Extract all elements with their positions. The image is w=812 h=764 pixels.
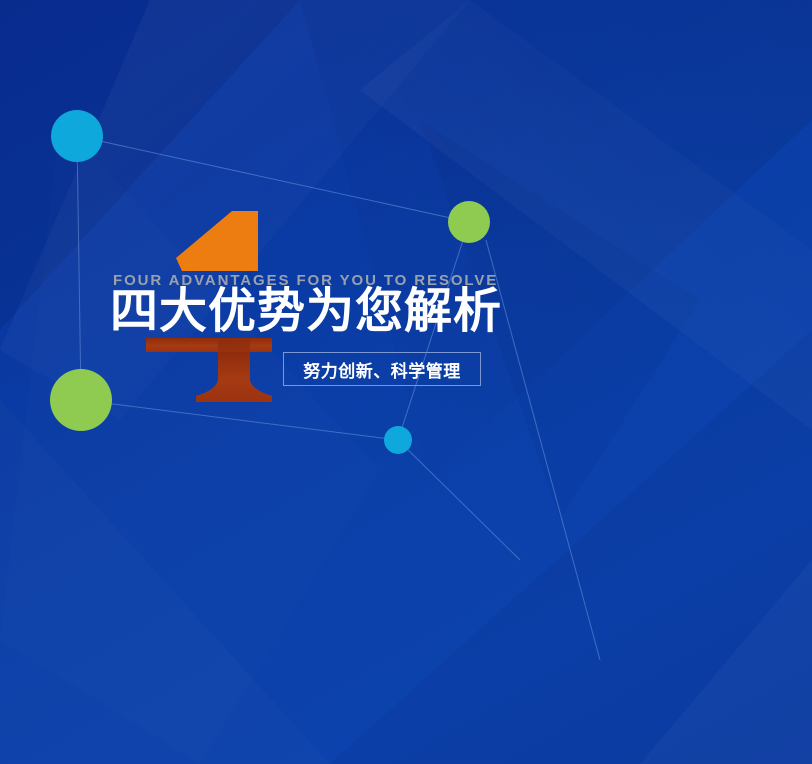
banner-cta-label: 努力创新、科学管理 [303,357,461,382]
banner-headline: 四大优势为您解析 [110,288,502,336]
node-green-bottom-left [50,369,112,431]
node-cyan-top-left [51,110,103,162]
banner-cta-button[interactable]: 努力创新、科学管理 [283,352,481,386]
node-green-right [448,201,490,243]
node-cyan-bottom [384,426,412,454]
banner-stage: FOUR ADVANTAGES FOR YOU TO RESOLVE 四大优势为… [0,0,812,764]
